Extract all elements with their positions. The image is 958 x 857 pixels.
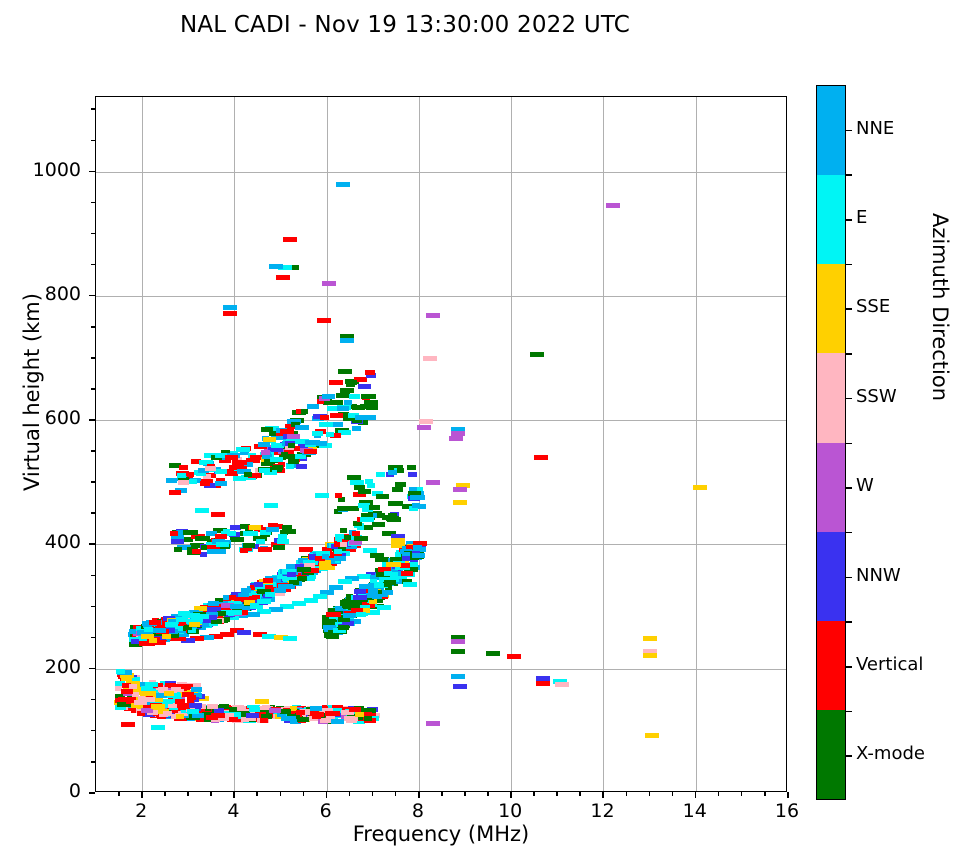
y-tick-minor <box>91 233 95 235</box>
data-point <box>165 622 178 627</box>
colorbar-boundary-tick <box>846 621 852 623</box>
y-tick-minor <box>91 357 95 359</box>
data-point <box>170 531 178 536</box>
ionogram-figure: NAL CADI - Nov 19 13:30:00 2022 UTC 2468… <box>0 0 958 857</box>
colorbar-label-x-mode: X-mode <box>856 743 925 764</box>
data-point <box>225 455 238 460</box>
colorbar-segment-ssw[interactable] <box>817 353 845 442</box>
y-tick-minor <box>91 606 95 608</box>
data-point <box>365 517 374 522</box>
data-point <box>286 464 294 469</box>
data-point <box>388 501 403 506</box>
x-tick-minor <box>649 792 651 796</box>
x-tick-minor <box>487 792 489 796</box>
data-point <box>261 427 273 432</box>
data-point <box>207 704 218 709</box>
data-point <box>451 639 465 644</box>
data-point <box>223 311 237 316</box>
data-point <box>179 465 188 470</box>
data-point <box>331 719 344 724</box>
data-point <box>338 625 349 630</box>
data-point <box>344 400 352 405</box>
data-point <box>298 576 307 581</box>
data-point <box>337 506 346 511</box>
x-tick <box>141 792 143 798</box>
y-axis-label: Virtual height (km) <box>20 242 44 542</box>
data-point <box>116 669 125 674</box>
data-point <box>366 405 379 410</box>
data-point <box>280 709 290 714</box>
data-point <box>326 432 334 437</box>
data-point <box>451 649 465 654</box>
data-point <box>129 629 137 634</box>
data-point <box>358 489 371 494</box>
data-point <box>361 394 375 399</box>
data-point <box>363 415 376 420</box>
data-point <box>258 547 272 552</box>
data-point <box>305 440 320 445</box>
gridline-horizontal <box>96 669 786 670</box>
colorbar-segment-nnw[interactable] <box>817 532 845 621</box>
data-point <box>250 455 258 460</box>
data-point <box>301 409 308 414</box>
data-point <box>377 513 385 518</box>
data-point <box>323 625 332 630</box>
data-point <box>232 460 247 465</box>
data-point <box>401 571 414 576</box>
data-point <box>334 549 343 554</box>
y-tick <box>89 792 95 794</box>
data-point <box>340 338 354 343</box>
data-point <box>340 602 352 607</box>
data-point <box>241 588 251 593</box>
data-point <box>643 636 657 641</box>
data-point <box>352 426 362 431</box>
data-point <box>451 674 465 679</box>
data-point <box>353 595 367 600</box>
data-point <box>269 264 283 269</box>
data-point <box>382 590 393 595</box>
data-point <box>191 687 202 692</box>
x-tick-label: 8 <box>388 800 448 822</box>
data-point <box>205 466 216 471</box>
data-point <box>317 318 331 323</box>
data-point <box>149 620 161 625</box>
data-point <box>129 684 138 689</box>
data-point <box>372 594 382 599</box>
x-tick-label: 10 <box>480 800 540 822</box>
data-point <box>217 611 226 616</box>
x-tick <box>233 792 235 798</box>
data-point <box>208 601 218 606</box>
data-point <box>146 691 155 696</box>
data-point <box>397 468 405 473</box>
data-point <box>223 305 237 310</box>
x-tick-minor <box>372 792 374 796</box>
data-point <box>163 711 173 716</box>
data-point <box>144 627 153 632</box>
data-point <box>337 406 349 411</box>
data-point <box>372 522 385 527</box>
data-point <box>310 711 319 716</box>
data-point <box>297 567 312 572</box>
data-point <box>384 571 392 576</box>
page-title: NAL CADI - Nov 19 13:30:00 2022 UTC <box>0 12 810 38</box>
data-point <box>281 716 296 721</box>
data-point <box>141 634 154 639</box>
data-point <box>182 692 194 697</box>
data-point <box>412 503 420 508</box>
data-point <box>395 482 406 487</box>
x-tick-minor <box>164 792 166 796</box>
gridline-horizontal <box>96 296 786 297</box>
data-point <box>376 472 385 477</box>
data-point <box>171 539 185 544</box>
data-point <box>215 534 227 539</box>
data-point <box>350 480 364 485</box>
colorbar-label-nne: NNE <box>856 118 894 139</box>
y-tick-minor <box>91 450 95 452</box>
data-point <box>263 578 273 583</box>
data-point <box>369 599 377 604</box>
data-point <box>606 203 620 208</box>
data-point <box>177 473 186 478</box>
data-point <box>277 539 289 544</box>
data-point <box>335 493 342 498</box>
data-point <box>693 485 707 490</box>
data-point <box>374 583 384 588</box>
data-point <box>453 500 467 505</box>
data-point <box>236 447 251 452</box>
data-point <box>319 565 332 570</box>
colorbar-label-e: E <box>856 207 867 228</box>
data-point <box>246 713 260 718</box>
data-point <box>270 457 283 462</box>
data-point <box>358 384 372 389</box>
data-point <box>273 545 285 550</box>
data-point <box>295 425 310 430</box>
data-point <box>189 479 197 484</box>
y-tick-minor <box>91 575 95 577</box>
x-tick-label: 12 <box>572 800 632 822</box>
data-point <box>507 654 521 659</box>
data-point <box>166 478 176 483</box>
y-tick-minor <box>91 699 95 701</box>
data-point <box>132 692 140 697</box>
data-point <box>296 464 307 469</box>
data-point <box>386 562 400 567</box>
data-point <box>287 572 297 577</box>
data-point <box>322 554 329 559</box>
data-point <box>121 676 132 681</box>
colorbar-title: Azimuth Direction <box>928 157 952 457</box>
data-point <box>178 480 190 485</box>
colorbar-segment-nne[interactable] <box>817 86 845 175</box>
data-point <box>288 459 299 464</box>
data-point <box>325 711 339 716</box>
data-point <box>354 589 367 594</box>
data-point <box>211 512 225 517</box>
data-point <box>263 437 277 442</box>
data-point <box>334 556 346 561</box>
data-point <box>417 425 431 430</box>
data-point <box>419 419 433 424</box>
colorbar-tick <box>846 487 852 489</box>
data-point <box>230 604 245 609</box>
data-point <box>243 543 255 548</box>
y-tick-minor <box>91 512 95 514</box>
data-point <box>376 494 390 499</box>
data-point <box>260 718 268 723</box>
colorbar-segment-w[interactable] <box>817 443 845 532</box>
data-point <box>195 536 209 541</box>
gridline-vertical <box>696 97 697 791</box>
data-point <box>449 436 463 441</box>
colorbar-label-sse: SSE <box>856 296 890 317</box>
data-point <box>354 536 369 541</box>
data-point <box>288 443 295 448</box>
data-point <box>249 525 261 530</box>
data-point <box>307 404 319 409</box>
colorbar-label-vertical: Vertical <box>856 654 923 675</box>
data-point <box>320 415 329 420</box>
data-point <box>278 534 287 539</box>
data-point <box>365 370 375 375</box>
data-point <box>145 682 157 687</box>
x-tick-label: 16 <box>757 800 817 822</box>
data-point <box>426 721 440 726</box>
y-tick-minor <box>91 264 95 266</box>
data-point <box>322 394 335 399</box>
data-point <box>356 612 366 617</box>
data-point <box>216 542 229 547</box>
data-point <box>402 556 410 561</box>
colorbar-boundary-tick <box>846 443 852 445</box>
colorbar[interactable] <box>816 85 846 800</box>
gridline-vertical <box>234 97 235 791</box>
data-point <box>338 617 350 622</box>
data-point <box>264 503 278 508</box>
data-point <box>315 493 329 498</box>
x-tick-minor <box>441 792 443 796</box>
colorbar-label-w: W <box>856 475 874 496</box>
x-tick-minor <box>464 792 466 796</box>
data-point <box>237 630 251 635</box>
data-point <box>255 699 269 704</box>
data-point <box>117 702 126 707</box>
data-point <box>410 495 425 500</box>
data-point <box>338 369 352 374</box>
data-point <box>274 588 286 593</box>
gridline-horizontal <box>96 172 786 173</box>
y-tick <box>89 668 95 670</box>
colorbar-tick <box>846 219 852 221</box>
data-point <box>197 614 209 619</box>
data-point <box>336 393 350 398</box>
data-point <box>250 603 260 608</box>
data-point <box>346 382 355 387</box>
x-tick-label: 6 <box>296 800 356 822</box>
data-point <box>407 465 416 470</box>
data-point <box>413 545 422 550</box>
data-point <box>229 595 237 600</box>
data-point <box>174 547 182 552</box>
data-point <box>211 619 221 624</box>
data-point <box>176 617 188 622</box>
colorbar-tick <box>846 398 852 400</box>
data-point <box>131 639 139 644</box>
data-point <box>153 628 166 633</box>
x-tick-minor <box>556 792 558 796</box>
data-point <box>258 442 270 447</box>
data-point <box>183 530 197 535</box>
data-point <box>530 352 544 357</box>
x-tick-minor <box>741 792 743 796</box>
data-point <box>403 582 417 587</box>
x-tick-minor <box>187 792 189 796</box>
data-point <box>121 689 133 694</box>
data-point <box>265 592 275 597</box>
data-point <box>215 469 226 474</box>
colorbar-boundary-tick <box>846 174 852 176</box>
data-point <box>340 528 347 533</box>
data-point <box>408 472 417 477</box>
x-tick-minor <box>672 792 674 796</box>
data-point <box>322 281 336 286</box>
x-tick <box>418 792 420 798</box>
data-point <box>486 651 500 656</box>
colorbar-tick <box>846 666 852 668</box>
x-tick-minor <box>626 792 628 796</box>
data-point <box>169 490 181 495</box>
colorbar-boundary-tick <box>846 532 852 534</box>
gridline-horizontal <box>96 420 786 421</box>
data-point <box>426 313 440 318</box>
data-point <box>187 709 199 714</box>
data-point <box>335 534 344 539</box>
y-tick-minor <box>91 326 95 328</box>
data-point <box>266 527 279 532</box>
colorbar-boundary-tick <box>846 353 852 355</box>
data-point <box>162 634 171 639</box>
data-point <box>345 506 359 511</box>
x-tick-minor <box>210 792 212 796</box>
data-point <box>426 480 440 485</box>
data-point <box>243 531 258 536</box>
x-tick-label: 4 <box>203 800 263 822</box>
colorbar-segment-sse[interactable] <box>817 264 845 353</box>
data-point <box>206 715 218 720</box>
plot-area[interactable] <box>95 96 787 792</box>
x-tick-label: 2 <box>111 800 171 822</box>
colorbar-label-ssw: SSW <box>856 386 897 407</box>
data-point <box>344 535 351 540</box>
y-tick <box>89 295 95 297</box>
data-point <box>249 707 260 712</box>
x-tick <box>695 792 697 798</box>
colorbar-segment-x-mode[interactable] <box>817 710 845 799</box>
y-tick-label: 200 <box>0 656 81 678</box>
data-point <box>151 725 165 730</box>
data-point <box>151 704 165 709</box>
gridline-vertical <box>511 97 512 791</box>
colorbar-boundary-tick <box>846 711 852 713</box>
data-point <box>350 394 357 399</box>
x-tick-minor <box>256 792 258 796</box>
y-tick-minor <box>91 730 95 732</box>
data-point <box>340 542 348 547</box>
gridline-vertical <box>419 97 420 791</box>
x-tick-minor <box>118 792 120 796</box>
data-point <box>283 237 297 242</box>
data-point <box>254 582 263 587</box>
x-tick-minor <box>764 792 766 796</box>
data-point <box>645 733 659 738</box>
data-point <box>142 697 154 702</box>
y-tick-label: 1000 <box>0 159 81 181</box>
data-point <box>410 553 425 558</box>
x-tick-minor <box>533 792 535 796</box>
data-point <box>192 549 201 554</box>
data-point <box>269 431 276 436</box>
data-point <box>276 275 290 280</box>
y-tick-minor <box>91 637 95 639</box>
y-tick <box>89 543 95 545</box>
x-tick <box>326 792 328 798</box>
colorbar-segment-vertical[interactable] <box>817 621 845 710</box>
x-tick-label: 14 <box>665 800 725 822</box>
data-point <box>230 537 244 542</box>
data-point <box>330 413 343 418</box>
data-point <box>287 434 300 439</box>
data-point <box>207 549 221 554</box>
data-point <box>229 717 238 722</box>
data-point <box>259 468 271 473</box>
data-point <box>297 717 309 722</box>
x-tick <box>510 792 512 798</box>
y-tick-minor <box>91 388 95 390</box>
data-point <box>388 513 397 518</box>
data-point <box>304 449 317 454</box>
colorbar-tick <box>846 755 852 757</box>
data-point <box>643 653 657 658</box>
data-point <box>392 487 403 492</box>
colorbar-segment-e[interactable] <box>817 175 845 264</box>
x-tick-minor <box>395 792 397 796</box>
colorbar-tick <box>846 130 852 132</box>
data-point <box>195 508 209 513</box>
x-tick-minor <box>579 792 581 796</box>
data-point <box>237 706 246 711</box>
data-point <box>296 710 305 715</box>
data-point <box>280 429 294 434</box>
data-point <box>121 722 135 727</box>
data-point <box>338 579 352 584</box>
data-point <box>453 684 467 689</box>
data-point <box>326 612 341 617</box>
colorbar-label-nnw: NNW <box>856 565 901 586</box>
data-point <box>244 472 252 477</box>
x-tick <box>787 792 789 798</box>
y-tick-minor <box>91 202 95 204</box>
x-tick-minor <box>303 792 305 796</box>
data-point <box>282 525 291 530</box>
gridline-vertical <box>603 97 604 791</box>
data-point <box>536 681 550 686</box>
data-point <box>269 708 281 713</box>
colorbar-boundary-tick <box>846 264 852 266</box>
data-point <box>423 356 437 361</box>
